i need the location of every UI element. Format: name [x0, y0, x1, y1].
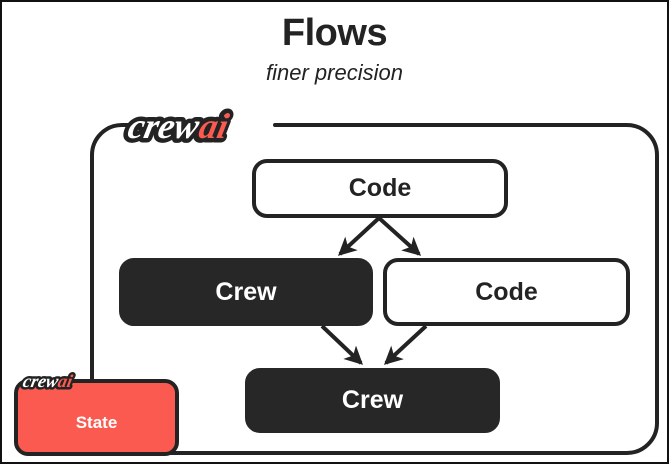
crewai-logo: crewai crew ai	[120, 102, 270, 152]
node-code-mid-label: Code	[475, 278, 538, 307]
node-crew-bot[interactable]: Crew	[245, 368, 500, 433]
page-subtitle: finer precision	[2, 60, 667, 86]
node-crew-mid-label: Crew	[215, 278, 276, 307]
node-crew-bot-label: Crew	[342, 386, 403, 415]
node-code-top-label: Code	[349, 174, 412, 203]
node-crew-mid[interactable]: Crew	[119, 258, 373, 326]
state-crewai-logo-ai-text: ai	[56, 371, 74, 391]
state-crewai-logo-crew-text: crew	[21, 371, 61, 391]
node-code-mid[interactable]: Code	[383, 258, 630, 326]
node-state-label: State	[76, 413, 118, 433]
node-code-top[interactable]: Code	[252, 159, 508, 218]
diagram-canvas: Flows finer precision Code Crew Code Cre…	[0, 0, 669, 464]
state-crewai-logo: crewai crew ai	[19, 368, 91, 394]
page-title: Flows	[2, 12, 667, 55]
crewai-logo-crew-text: crew	[125, 106, 204, 146]
